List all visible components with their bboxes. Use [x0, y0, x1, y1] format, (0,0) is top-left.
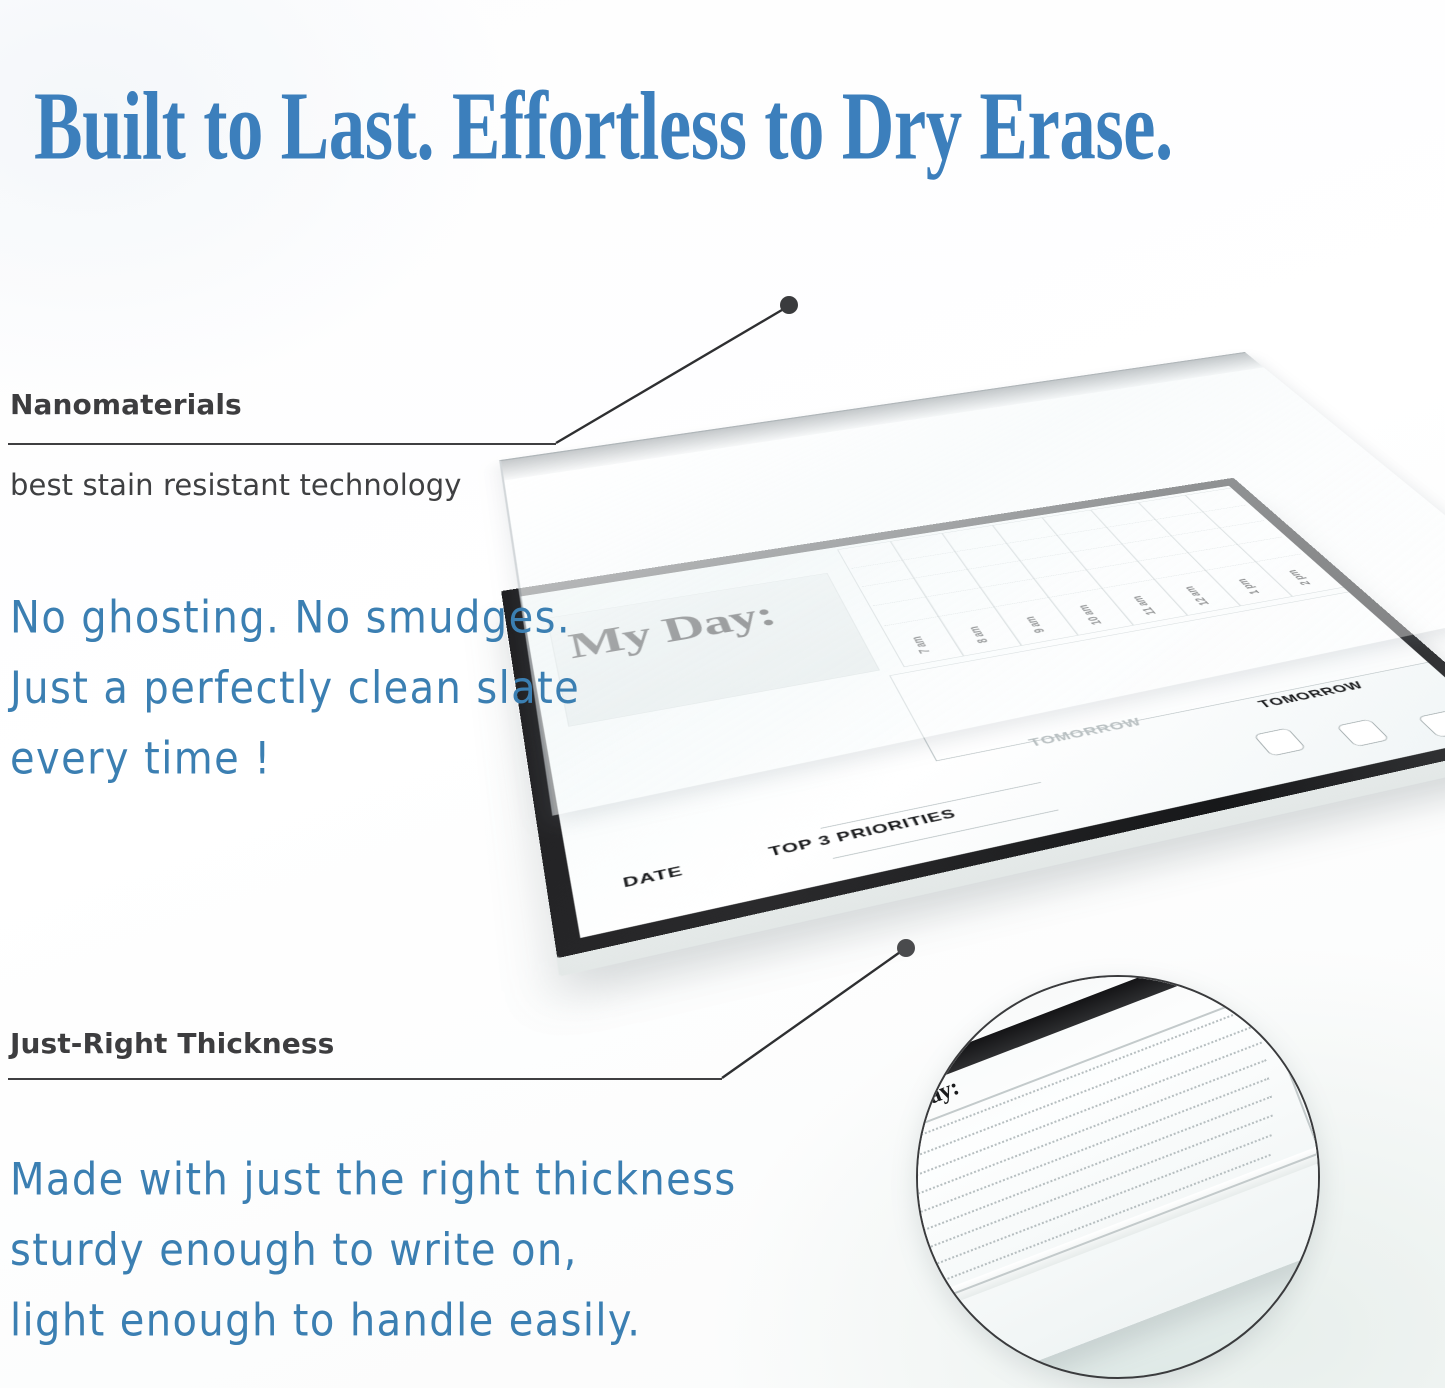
callout-underline-nanomaterials — [8, 443, 556, 445]
callout-body-nanomaterials: No ghosting. No smudges. Just a perfectl… — [10, 583, 580, 795]
priority-checkbox[interactable] — [1417, 710, 1445, 738]
callout-underline-thickness — [8, 1078, 722, 1080]
thickness-magnifier-inset: My Day: — [916, 975, 1320, 1379]
callout-subtitle-nanomaterials: best stain resistant technology — [10, 468, 462, 502]
page-title: Built to Last. Effortless to Dry Erase. — [34, 78, 1393, 176]
callout-body-thickness: Made with just the right thickness sturd… — [10, 1145, 737, 1357]
magnified-notepad-edge: My Day: — [916, 975, 1320, 1379]
callout-label-nanomaterials: Nanomaterials — [10, 388, 242, 421]
notepad-product-image: My Day: 7 am 8 am 9 am 10 am 11 am 12 am… — [497, 170, 1445, 990]
callout-label-thickness: Just-Right Thickness — [10, 1027, 334, 1060]
section-label-date: DATE — [622, 863, 685, 891]
priority-checkbox[interactable] — [1253, 728, 1307, 757]
product-feature-graphic: Built to Last. Effortless to Dry Erase. … — [0, 0, 1445, 1388]
priority-checkbox[interactable] — [1336, 719, 1391, 747]
